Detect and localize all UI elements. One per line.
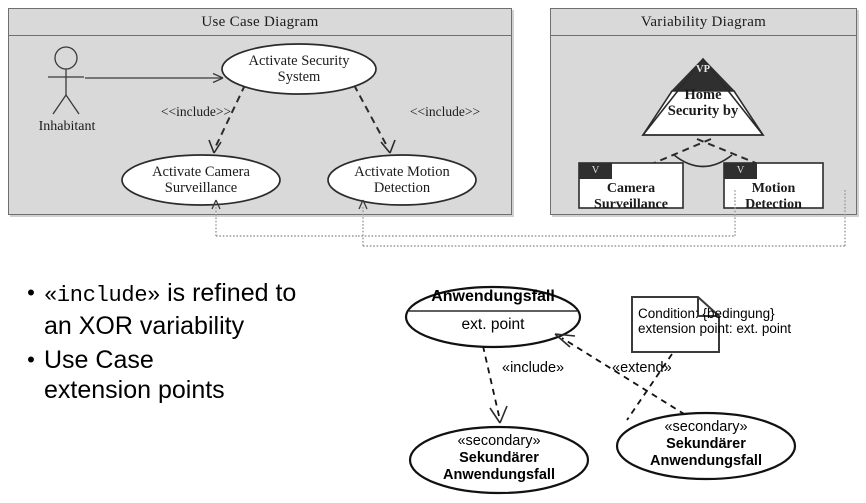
- stick-figure-actor-icon: [48, 47, 84, 114]
- include-relation-label: «include»: [502, 360, 564, 376]
- variation-point-label: Home Security by: [643, 87, 763, 119]
- bullet-text-2: Use Case extension points: [44, 345, 225, 405]
- secondary-right-line2: Anwendungsfall: [621, 453, 791, 470]
- secondary-use-case-left-label: «secondary» Sekundärer Anwendungsfall: [414, 433, 584, 484]
- variant-badge-camera: V: [581, 165, 610, 176]
- condition-note-line2: extension point: ext. point: [638, 321, 724, 336]
- use-case-label-security-line2: System: [222, 69, 376, 85]
- bullet-2-line2: extension points: [44, 375, 225, 405]
- include-label-camera: <<include>>: [138, 104, 254, 120]
- bullet-1-rest: is refined to: [160, 279, 296, 307]
- variant-badge-motion: V: [726, 165, 755, 176]
- bullet-list: • «include» is refined to an XOR variabi…: [18, 278, 418, 409]
- variant-label-motion: Motion Detection: [724, 181, 823, 212]
- use-case-label-camera-line2: Surveillance: [122, 180, 280, 196]
- variation-point-badge: VP: [679, 64, 727, 75]
- secondary-right-stereotype: «secondary»: [621, 419, 791, 436]
- primary-use-case-extension-point: ext. point: [406, 316, 580, 334]
- variability-diagram-body: VP Home Security by V Camera Surveillanc…: [551, 35, 856, 214]
- bullet-text-1: «include» is refined to an XOR variabili…: [44, 278, 296, 341]
- use-case-label-camera-line1: Activate Camera: [122, 164, 280, 180]
- bullet-marker-2: •: [18, 345, 44, 375]
- variation-point-line2: Security by: [643, 103, 763, 119]
- bullet-marker-1: •: [18, 278, 44, 308]
- use-case-diagram-body: Inhabitant Activate Security System Acti…: [9, 35, 511, 214]
- bullet-1-line2: an XOR variability: [44, 311, 296, 341]
- secondary-left-stereotype: «secondary»: [414, 433, 584, 450]
- extension-point-diagram: Anwendungsfall ext. point Condition: {be…: [400, 280, 866, 503]
- variation-point-line1: Home: [643, 87, 763, 103]
- use-case-diagram-title: Use Case Diagram: [9, 9, 511, 36]
- condition-note-text: Condition: {bedingung} extension point: …: [638, 306, 724, 336]
- use-case-label-motion-line1: Activate Motion: [328, 164, 476, 180]
- condition-note-line1: Condition: {bedingung}: [638, 306, 724, 321]
- bullet-item-1: • «include» is refined to an XOR variabi…: [18, 278, 418, 341]
- bullet-item-2: • Use Case extension points: [18, 345, 418, 405]
- secondary-left-line2: Anwendungsfall: [414, 467, 584, 484]
- use-case-label-security-line1: Activate Security: [222, 53, 376, 69]
- variability-diagram-title: Variability Diagram: [551, 9, 856, 36]
- extend-relation-label: «extend»: [612, 360, 672, 376]
- slide-canvas: Use Case Diagram: [0, 0, 866, 503]
- include-label-motion: <<include>>: [387, 104, 503, 120]
- variant-label-camera-line1: Camera: [579, 181, 683, 197]
- include-relation-arrow: [483, 346, 507, 423]
- use-case-label-motion-line2: Detection: [328, 180, 476, 196]
- actor-association-line: [85, 74, 223, 83]
- use-case-label-motion: Activate Motion Detection: [328, 164, 476, 196]
- actor-label: Inhabitant: [25, 119, 109, 135]
- secondary-left-line1: Sekundärer: [414, 450, 584, 467]
- variant-label-camera-line2: Surveillance: [579, 197, 683, 213]
- variant-label-camera: Camera Surveillance: [579, 181, 683, 212]
- bullet-2-line1: Use Case: [44, 345, 225, 375]
- secondary-right-line1: Sekundärer: [621, 436, 791, 453]
- variability-diagram-panel: Variability Diagram: [550, 8, 857, 215]
- primary-use-case-name: Anwendungsfall: [406, 288, 580, 306]
- variant-label-motion-line2: Detection: [724, 197, 823, 213]
- variant-label-motion-line1: Motion: [724, 181, 823, 197]
- use-case-diagram-panel: Use Case Diagram: [8, 8, 512, 215]
- secondary-use-case-right-label: «secondary» Sekundärer Anwendungsfall: [621, 419, 791, 470]
- use-case-label-camera: Activate Camera Surveillance: [122, 164, 280, 196]
- use-case-label-security: Activate Security System: [222, 53, 376, 85]
- bullet-1-mono: «include»: [44, 283, 160, 308]
